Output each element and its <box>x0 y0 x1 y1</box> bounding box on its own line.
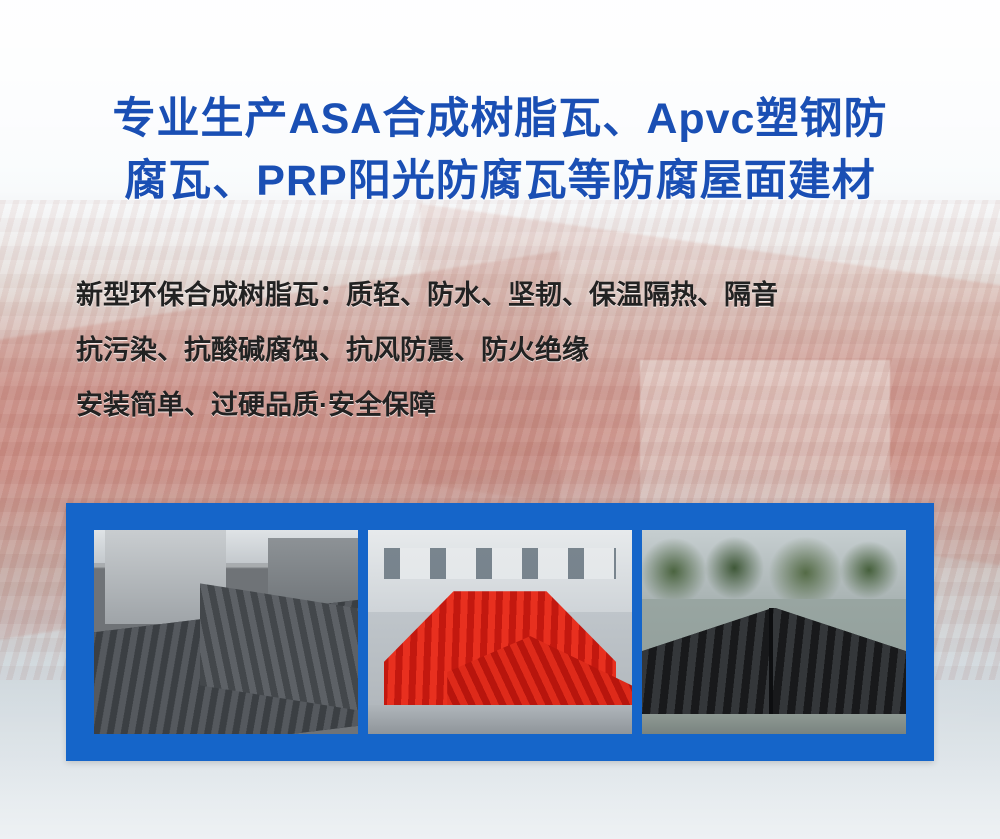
page-title-line-2: 腐瓦、PRP阳光防腐瓦等防腐屋面建材 <box>0 150 1000 212</box>
subtitle-line-3: 安装简单、过硬品质·安全保障 <box>76 378 778 433</box>
page-title-line-1: 专业生产ASA合成树脂瓦、Apvc塑钢防 <box>0 88 1000 150</box>
photo3-treeline <box>642 530 906 599</box>
photo2-windows <box>384 548 616 579</box>
page-title: 专业生产ASA合成树脂瓦、Apvc塑钢防 腐瓦、PRP阳光防腐瓦等防腐屋面建材 <box>0 88 1000 212</box>
photo-grey-resin-tile-roof[interactable] <box>94 530 358 734</box>
subtitle-block: 新型环保合成树脂瓦：质轻、防水、坚韧、保温隔热、隔音 抗污染、抗酸碱腐蚀、抗风防… <box>76 268 778 433</box>
subtitle-line-2: 抗污染、抗酸碱腐蚀、抗风防震、防火绝缘 <box>76 323 778 378</box>
subtitle-line-1: 新型环保合成树脂瓦：质轻、防水、坚韧、保温隔热、隔音 <box>76 268 778 323</box>
photo-red-resin-tile-roof[interactable] <box>368 530 632 734</box>
product-gallery <box>66 503 934 761</box>
photo2-foreground <box>368 705 632 734</box>
photo3-foreground <box>642 714 906 734</box>
photo-black-resin-tile-roof[interactable] <box>642 530 906 734</box>
